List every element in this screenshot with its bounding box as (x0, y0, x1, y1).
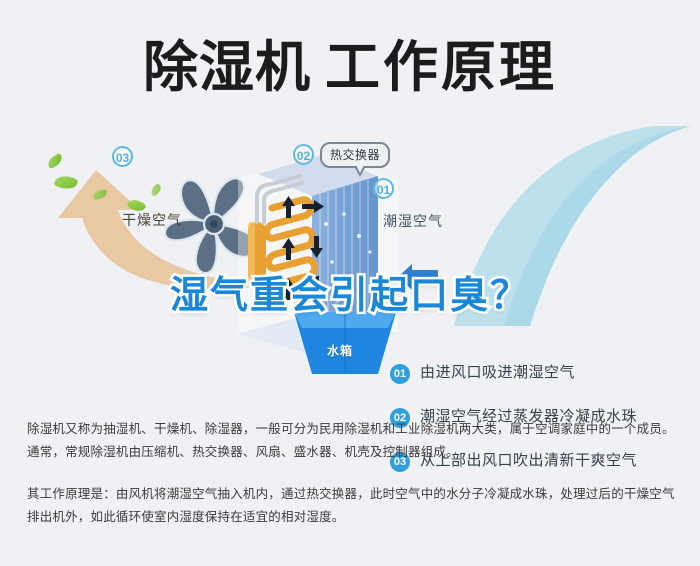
title-sub: 工作原理 (325, 36, 557, 98)
description-paragraph-2: 其工作原理是：由风机将潮湿空气抽入机内，通过热交换器，此时空气中的水分子冷凝成水… (27, 483, 677, 529)
badge-01: 01 (373, 178, 394, 199)
heat-exchanger-callout: 热交换器 (320, 142, 390, 168)
step-number: 01 (390, 364, 410, 384)
description-paragraph-1: 除湿机又称为抽湿机、干燥机、除湿器，一般可分为民用除湿机和工业除湿机两大类，属于… (27, 418, 677, 464)
diagram-illustration: 水箱 03 02 01 干燥空气 潮湿空气 热交换器 01 由进风口吸进潮湿空气… (0, 118, 700, 400)
title-main: 除湿机 (143, 36, 311, 98)
water-tank-label: 水箱 (327, 342, 353, 359)
list-item: 01 由进风口吸进潮湿空气 (390, 362, 690, 406)
description-block: 除湿机又称为抽湿机、干燥机、除湿器，一般可分为民用除湿机和工业除湿机两大类，属于… (27, 418, 677, 529)
dehumidifier-infographic: 除湿机工作原理 (0, 0, 700, 566)
step-text: 由进风口吸进潮湿空气 (420, 364, 575, 381)
page-title: 除湿机工作原理 (0, 22, 700, 102)
dry-air-label: 干燥空气 (122, 210, 182, 230)
humid-air-label: 潮湿空气 (383, 211, 443, 231)
overlay-headline: 湿气重会引起口臭？ (0, 264, 700, 319)
badge-03: 03 (112, 146, 133, 167)
badge-02: 02 (293, 144, 314, 165)
